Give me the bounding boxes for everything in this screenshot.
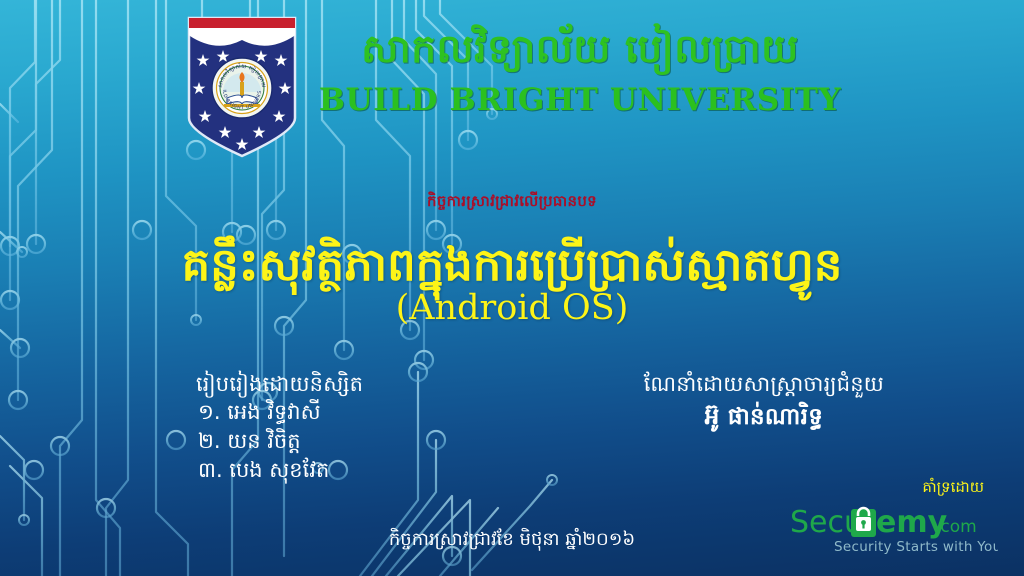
secudemy-brand-tld: .com: [935, 517, 977, 537]
page-title: គន្លឹះសុវត្ថិភាពក្នុងការប្រើប្រាស់ស្មាតហ…: [0, 238, 1024, 291]
students-heading: រៀបរៀងដោយនិស្សិត: [196, 370, 363, 398]
university-name-khmer: សាកលវិទ្យាល័យ បៀលប្រាយ: [361, 28, 799, 72]
sponsor-label: គាំទ្រដោយ: [788, 478, 998, 500]
presentation-title-slide: សាកលវិទ្យាល័យ បៀលប្រាយ BUILD BRIGHT UNIV…: [0, 0, 1024, 576]
lock-icon: [851, 508, 876, 537]
secudemy-tagline: Security Starts with You: [834, 539, 998, 555]
advisor-credit-block: ណែនាំដោយសាស្រ្តាចារ្យជំនួយ អ៊ូ ផាន់ណារិទ…: [644, 370, 884, 436]
sponsor-block: គាំទ្រដោយ Secu emy .com Security Starts …: [788, 478, 998, 560]
university-header: សាកលវិទ្យាល័យ បៀលប្រាយ BUILD BRIGHT UNIV…: [0, 14, 1024, 160]
student-name-1: ១. អេង វិទ្ធវាសី: [196, 398, 363, 427]
secudemy-logo[interactable]: Secu emy .com Security Starts with You: [788, 502, 998, 560]
university-name-english: BUILD BRIGHT UNIVERSITY: [319, 82, 842, 118]
page-subtitle: (Android OS): [0, 289, 1024, 328]
university-name-block: សាកលវិទ្យាល័យ បៀលប្រាយ BUILD BRIGHT UNIV…: [319, 14, 842, 118]
advisor-heading: ណែនាំដោយសាស្រ្តាចារ្យជំនួយ: [644, 370, 884, 398]
research-topic-label: កិច្ចការស្រាវជ្រាវលើប្រធានបទ: [0, 192, 1024, 214]
student-name-2: ២. យន វិចិត្ត: [196, 427, 363, 456]
student-name-3: ៣. បេង សុខវែត: [196, 456, 363, 485]
university-crest-logo: សាកលវិទ្យាល័យ បៀលប្រាយ BUILD BRIGHT UNIV…: [183, 14, 301, 160]
slide-title-block: គន្លឹះសុវត្ថិភាពក្នុងការប្រើប្រាស់ស្មាតហ…: [0, 238, 1024, 328]
students-credit-block: រៀបរៀងដោយនិស្សិត ១. អេង វិទ្ធវាសី ២. យន …: [196, 370, 363, 485]
advisor-name: អ៊ូ ផាន់ណារិទ្ធ: [644, 403, 884, 436]
